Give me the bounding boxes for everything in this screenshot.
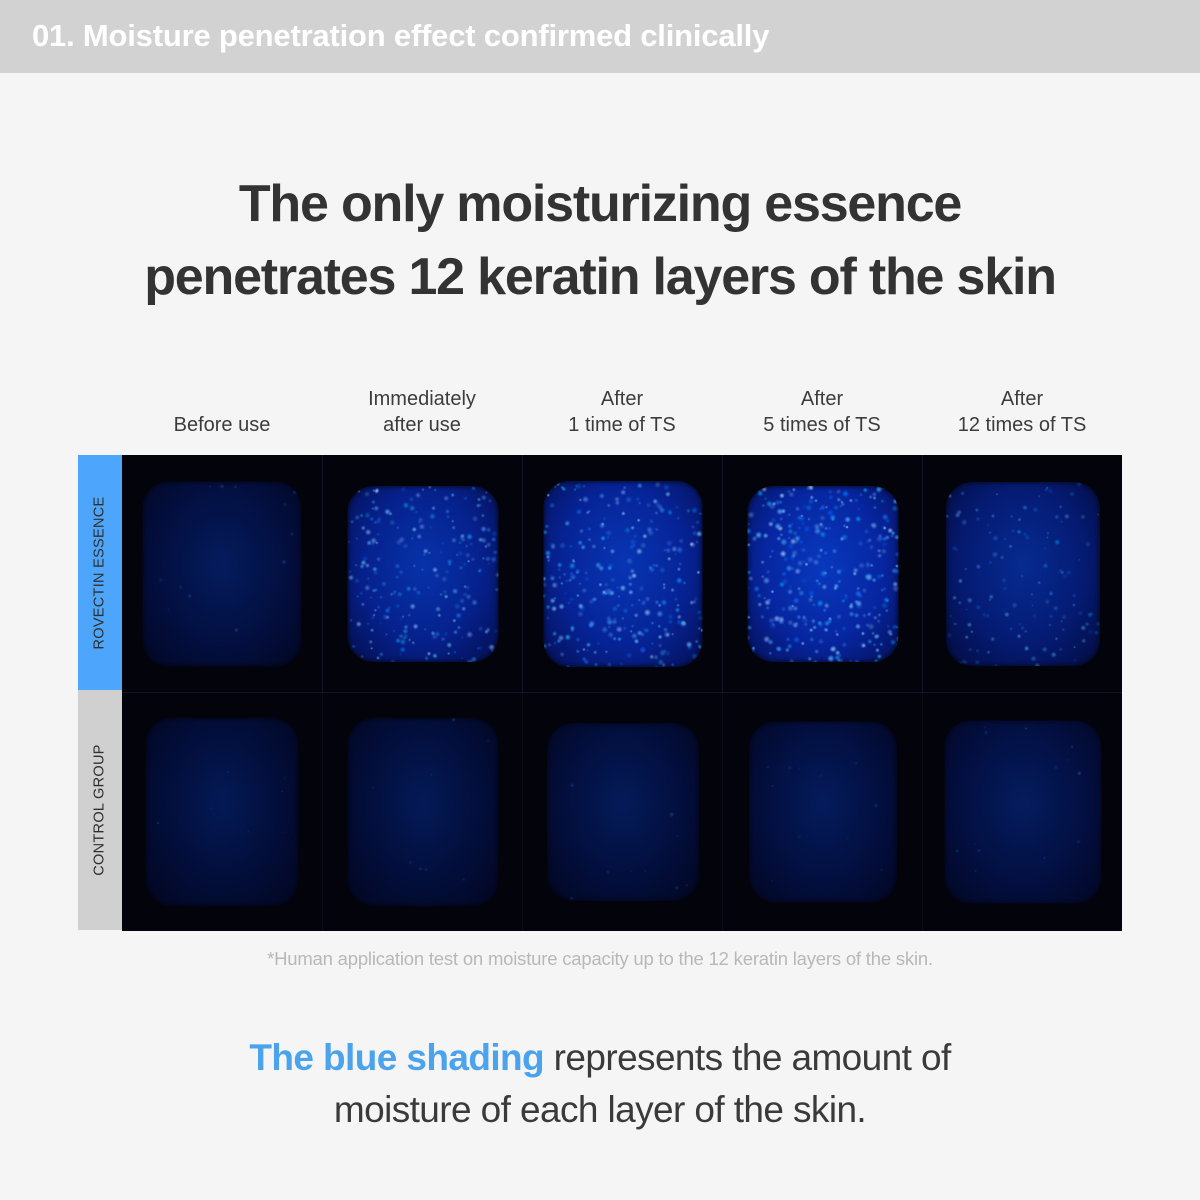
column-header-line-2: after use: [322, 412, 522, 438]
microscopy-cell-essence-after-1-time: [522, 455, 722, 692]
microscopy-image-grid: [122, 455, 1122, 930]
column-header-line-1: Immediately: [322, 386, 522, 412]
column-header-after-5-times: After 5 times of TS: [722, 386, 922, 446]
fluorescence-patch: [944, 721, 1101, 904]
caption-rest-text: represents the amount of: [544, 1037, 951, 1078]
column-header-after-12-times: After 12 times of TS: [922, 386, 1122, 446]
column-header-line-1: After: [522, 386, 722, 412]
column-header-line-2: 12 times of TS: [922, 412, 1122, 438]
fluorescence-patch: [543, 481, 702, 667]
patch-speckle: [547, 723, 699, 901]
microscopy-cell-control-after-1-time: [522, 693, 722, 931]
patch-speckle: [146, 718, 299, 906]
grid-row-control-group: [122, 693, 1122, 931]
fluorescence-patch: [547, 723, 699, 901]
row-label-rovectin-essence: ROVECTIN ESSENCE: [78, 455, 122, 690]
column-header-after-1-time: After 1 time of TS: [522, 386, 722, 446]
fluorescence-patch: [946, 482, 1100, 666]
patch-speckle: [946, 482, 1100, 666]
headline-line-1: The only moisturizing essence: [0, 168, 1200, 241]
row-label-text: CONTROL GROUP: [92, 744, 108, 875]
fluorescence-patch: [146, 718, 299, 906]
microscopy-cell-control-after-12-times: [922, 693, 1122, 931]
patch-speckle: [347, 718, 498, 906]
patch-speckle: [543, 481, 702, 667]
microscopy-cell-control-after-5-times: [722, 693, 922, 931]
microscopy-cell-essence-after-5-times: [722, 455, 922, 692]
row-label-text: ROVECTIN ESSENCE: [92, 496, 108, 649]
column-header-before-use: Before use: [122, 412, 322, 446]
fluorescence-patch: [347, 486, 498, 662]
caption-accent-text: The blue shading: [249, 1037, 544, 1078]
patch-speckle: [944, 721, 1101, 904]
column-header-line-1: After: [922, 386, 1122, 412]
patch-speckle: [347, 486, 498, 662]
column-header-line-2: 5 times of TS: [722, 412, 922, 438]
column-header-line-2: 1 time of TS: [522, 412, 722, 438]
headline-line-2: penetrates 12 keratin layers of the skin: [0, 241, 1200, 314]
page-section-title: 01. Moisture penetration effect confirme…: [32, 18, 769, 54]
page-title: The only moisturizing essence penetrates…: [0, 168, 1200, 314]
microscopy-cell-control-before-use: [122, 693, 322, 931]
caption-line-1: The blue shading represents the amount o…: [0, 1032, 1200, 1084]
grid-row-rovectin-essence: [122, 455, 1122, 693]
figure-column-headers: Before use Immediately after use After 1…: [122, 376, 1122, 446]
row-label-control-group: CONTROL GROUP: [78, 690, 122, 930]
caption-line-2: moisture of each layer of the skin.: [0, 1084, 1200, 1136]
fluorescence-patch: [347, 718, 498, 906]
fluorescence-patch: [749, 722, 897, 903]
column-header-immediately-after-use: Immediately after use: [322, 386, 522, 446]
patch-speckle: [749, 722, 897, 903]
column-header-line-2: Before use: [122, 412, 322, 438]
header-bar: 01. Moisture penetration effect confirme…: [0, 0, 1200, 73]
figure-footnote: *Human application test on moisture capa…: [0, 948, 1200, 970]
patch-speckle: [143, 481, 302, 666]
figure-caption: The blue shading represents the amount o…: [0, 1032, 1200, 1136]
microscopy-cell-essence-before-use: [122, 455, 322, 692]
fluorescence-patch: [747, 486, 898, 662]
microscopy-cell-essence-after-12-times: [922, 455, 1122, 692]
microscopy-cell-essence-immediately-after-use: [322, 455, 522, 692]
microscopy-cell-control-immediately-after-use: [322, 693, 522, 931]
column-header-line-1: After: [722, 386, 922, 412]
patch-speckle: [747, 486, 898, 662]
fluorescence-patch: [143, 481, 302, 666]
